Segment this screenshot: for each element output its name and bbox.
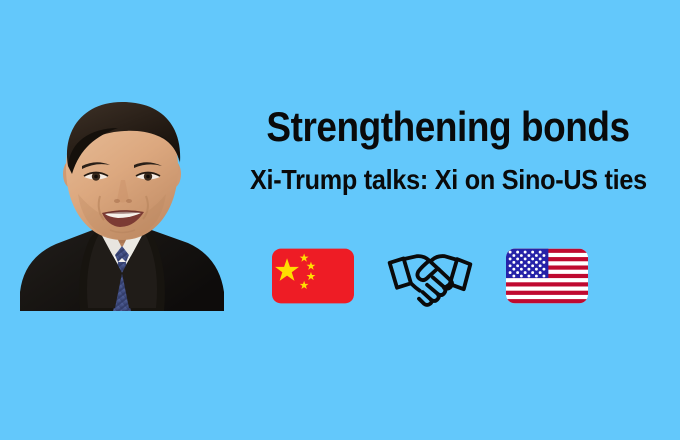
xi-jinping-portrait [18, 96, 226, 312]
handshake-icon [386, 245, 474, 307]
china-flag-icon [272, 247, 354, 305]
headline-block: Strengthening bonds Xi-Trump talks: Xi o… [228, 104, 668, 196]
usa-flag-icon [506, 247, 588, 305]
subtitle: Xi-Trump talks: Xi on Sino-US ties [250, 164, 646, 196]
news-banner: Strengthening bonds Xi-Trump talks: Xi o… [0, 0, 680, 440]
emblem-row [272, 233, 588, 319]
page-title: Strengthening bonds [254, 104, 641, 150]
